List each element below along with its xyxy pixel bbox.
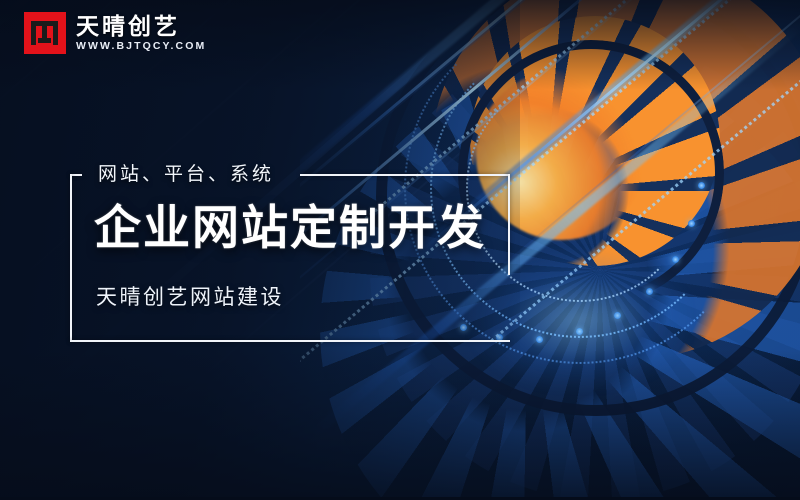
hero-headline: 企业网站定制开发 — [94, 204, 486, 251]
hero-subline: 天晴创艺网站建设 — [96, 281, 284, 311]
tianqing-chuangyi-logo-mark — [24, 12, 66, 54]
frame-line-left — [70, 174, 72, 342]
bottom-vignette — [0, 350, 800, 500]
hero-eyebrow: 网站、平台、系统 — [98, 159, 274, 186]
frame-line-bottom — [70, 340, 510, 342]
frame-line-top — [300, 174, 510, 176]
headline-bracket-frame: 网站、平台、系统 企业网站定制开发 天晴创艺网站建设 — [70, 174, 510, 342]
promo-banner: 天晴创艺 WWW.BJTQCY.COM 网站、平台、系统 企业网站定制开发 天晴… — [0, 0, 800, 500]
website-url: WWW.BJTQCY.COM — [76, 41, 206, 52]
company-name: 天晴创艺 — [76, 15, 206, 38]
frame-line-right — [508, 174, 510, 275]
brand-logo[interactable]: 天晴创艺 WWW.BJTQCY.COM — [24, 12, 206, 54]
